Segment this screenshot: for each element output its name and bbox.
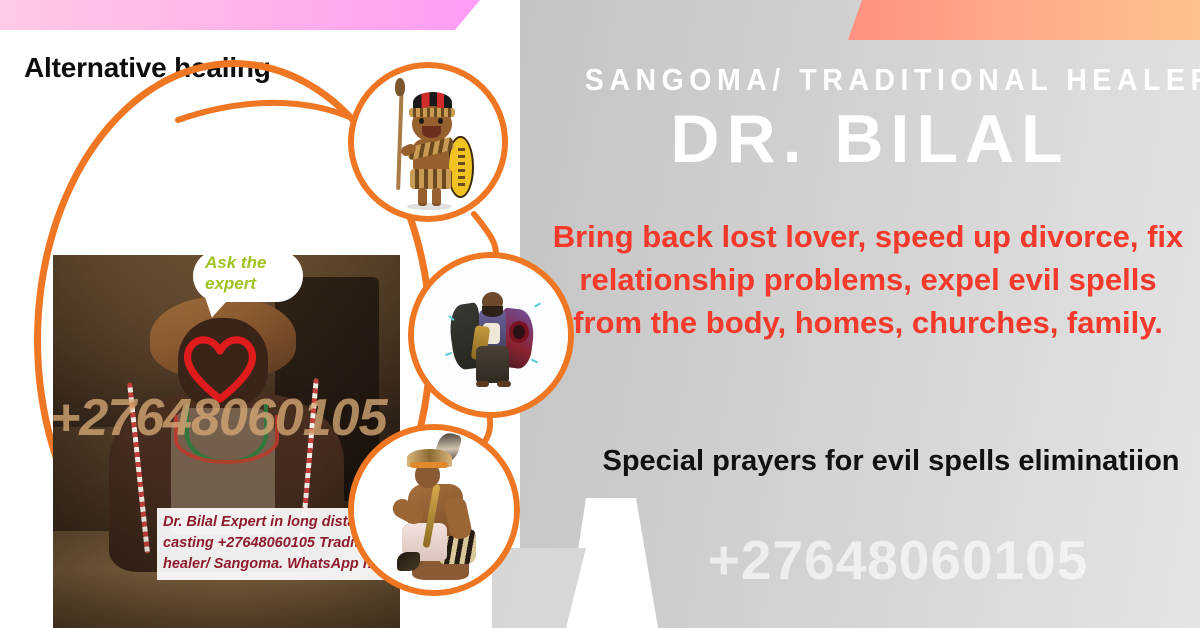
kicker-sangoma-traditional-healer: SANGOMA/ TRADITIONAL HEALER [585, 62, 1155, 98]
large-phone-watermark: +27648060105 [596, 528, 1200, 592]
robed-diviner-illustration [414, 258, 568, 412]
brand-name-dr-bilal: DR. BILAL [560, 104, 1180, 175]
ask-the-expert-text: Ask the expert [205, 252, 301, 295]
zulu-warrior-illustration [354, 68, 502, 216]
poster-canvas: Alternative healing Ask the expert +2764… [0, 0, 1200, 628]
orange-accent-bar [848, 0, 1200, 40]
crouching-healer-illustration [354, 430, 514, 590]
pink-accent-bar [0, 0, 480, 30]
node-crouching-healer-figure [348, 424, 520, 596]
special-prayers-copy: Special prayers for evil spells eliminat… [596, 442, 1186, 481]
services-copy: Bring back lost lover, speed up divorce,… [548, 216, 1188, 344]
photo-phone-watermark: +27648060105 [50, 388, 387, 448]
node-zulu-warrior-cartoon [348, 62, 508, 222]
